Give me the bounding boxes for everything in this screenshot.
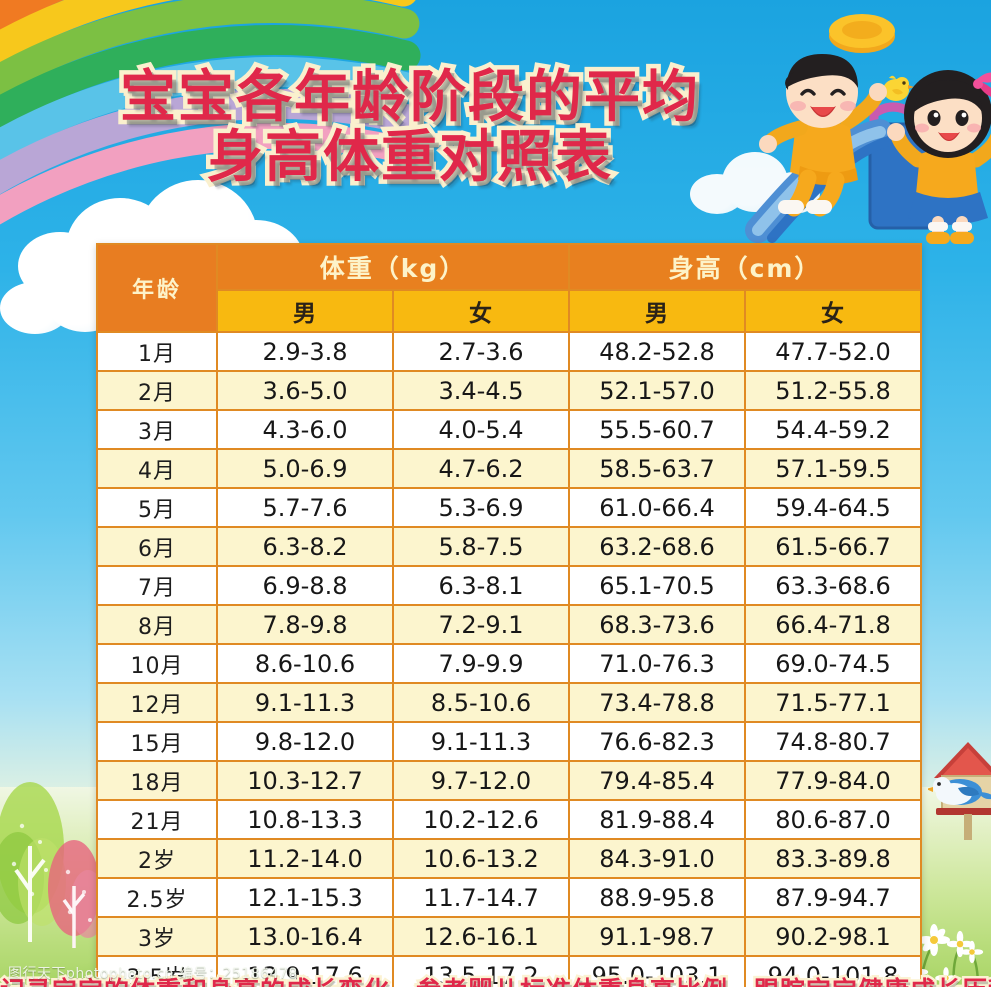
- row-weight-male: 7.8-9.8: [217, 605, 393, 644]
- row-weight-female: 2.7-3.6: [393, 332, 569, 371]
- row-weight-female: 9.7-12.0: [393, 761, 569, 800]
- row-weight-male: 3.6-5.0: [217, 371, 393, 410]
- row-age: 8月: [97, 605, 217, 644]
- row-height-female: 47.7-52.0: [745, 332, 921, 371]
- row-weight-female: 12.6-16.1: [393, 917, 569, 956]
- table-row: 10月8.6-10.67.9-9.971.0-76.369.0-74.5: [97, 644, 921, 683]
- row-weight-female: 10.6-13.2: [393, 839, 569, 878]
- table-row: 15月9.8-12.09.1-11.376.6-82.374.8-80.7: [97, 722, 921, 761]
- row-weight-male: 9.8-12.0: [217, 722, 393, 761]
- row-weight-female: 6.3-8.1: [393, 566, 569, 605]
- row-weight-female: 9.1-11.3: [393, 722, 569, 761]
- table-row: 2岁11.2-14.010.6-13.284.3-91.083.3-89.8: [97, 839, 921, 878]
- row-height-male: 88.9-95.8: [569, 878, 745, 917]
- row-age: 15月: [97, 722, 217, 761]
- row-height-male: 63.2-68.6: [569, 527, 745, 566]
- row-weight-female: 8.5-10.6: [393, 683, 569, 722]
- row-weight-male: 4.3-6.0: [217, 410, 393, 449]
- header-weight-male: 男: [217, 290, 393, 332]
- row-age: 2月: [97, 371, 217, 410]
- table-row: 2.5岁12.1-15.311.7-14.788.9-95.887.9-94.7: [97, 878, 921, 917]
- row-weight-female: 7.9-9.9: [393, 644, 569, 683]
- row-height-female: 87.9-94.7: [745, 878, 921, 917]
- row-weight-male: 5.7-7.6: [217, 488, 393, 527]
- row-weight-female: 7.2-9.1: [393, 605, 569, 644]
- row-height-female: 71.5-77.1: [745, 683, 921, 722]
- row-height-male: 65.1-70.5: [569, 566, 745, 605]
- row-height-male: 58.5-63.7: [569, 449, 745, 488]
- row-height-male: 84.3-91.0: [569, 839, 745, 878]
- row-height-male: 55.5-60.7: [569, 410, 745, 449]
- row-weight-male: 13.0-16.4: [217, 917, 393, 956]
- row-age: 5月: [97, 488, 217, 527]
- row-weight-male: 5.0-6.9: [217, 449, 393, 488]
- row-height-female: 61.5-66.7: [745, 527, 921, 566]
- row-weight-male: 10.8-13.3: [217, 800, 393, 839]
- row-height-male: 68.3-73.6: [569, 605, 745, 644]
- table-body: 1月2.9-3.82.7-3.648.2-52.847.7-52.02月3.6-…: [97, 332, 921, 987]
- row-age: 1月: [97, 332, 217, 371]
- row-weight-female: 4.7-6.2: [393, 449, 569, 488]
- row-age: 7月: [97, 566, 217, 605]
- row-weight-male: 11.2-14.0: [217, 839, 393, 878]
- watermark-text: 图行天下photophoto.cn 编号：25186478: [8, 963, 298, 983]
- header-height-male: 男: [569, 290, 745, 332]
- row-height-female: 66.4-71.8: [745, 605, 921, 644]
- table-row: 7月6.9-8.86.3-8.165.1-70.563.3-68.6: [97, 566, 921, 605]
- row-height-male: 91.1-98.7: [569, 917, 745, 956]
- row-height-male: 81.9-88.4: [569, 800, 745, 839]
- row-height-female: 80.6-87.0: [745, 800, 921, 839]
- row-height-female: 63.3-68.6: [745, 566, 921, 605]
- row-height-male: 48.2-52.8: [569, 332, 745, 371]
- header-weight-female: 女: [393, 290, 569, 332]
- table-row: 1月2.9-3.82.7-3.648.2-52.847.7-52.0: [97, 332, 921, 371]
- row-age: 3岁: [97, 917, 217, 956]
- table-row: 18月10.3-12.79.7-12.079.4-85.477.9-84.0: [97, 761, 921, 800]
- table-header-row-sexes: 男 女 男 女: [97, 290, 921, 332]
- row-height-male: 76.6-82.3: [569, 722, 745, 761]
- poster-canvas: 宝宝各年龄阶段的平均 身高体重对照表 年龄 体重（kg） 身高（cm） 男 女 …: [0, 0, 991, 987]
- row-weight-female: 4.0-5.4: [393, 410, 569, 449]
- row-weight-female: 5.8-7.5: [393, 527, 569, 566]
- table-row: 4月5.0-6.94.7-6.258.5-63.757.1-59.5: [97, 449, 921, 488]
- girl-standing-icon: [880, 56, 991, 246]
- table-header: 年龄 体重（kg） 身高（cm） 男 女 男 女: [97, 244, 921, 332]
- row-weight-male: 2.9-3.8: [217, 332, 393, 371]
- row-height-male: 79.4-85.4: [569, 761, 745, 800]
- row-weight-male: 6.3-8.2: [217, 527, 393, 566]
- table-row: 6月6.3-8.25.8-7.563.2-68.661.5-66.7: [97, 527, 921, 566]
- row-weight-male: 6.9-8.8: [217, 566, 393, 605]
- row-weight-male: 8.6-10.6: [217, 644, 393, 683]
- table-header-row-groups: 年龄 体重（kg） 身高（cm）: [97, 244, 921, 290]
- row-height-female: 77.9-84.0: [745, 761, 921, 800]
- row-age: 6月: [97, 527, 217, 566]
- row-height-female: 74.8-80.7: [745, 722, 921, 761]
- row-age: 3月: [97, 410, 217, 449]
- table-row: 21月10.8-13.310.2-12.681.9-88.480.6-87.0: [97, 800, 921, 839]
- table-row: 5月5.7-7.65.3-6.961.0-66.459.4-64.5: [97, 488, 921, 527]
- birdhouse-with-blue-bird-icon: [928, 734, 991, 840]
- row-age: 12月: [97, 683, 217, 722]
- row-weight-female: 5.3-6.9: [393, 488, 569, 527]
- row-height-female: 57.1-59.5: [745, 449, 921, 488]
- row-height-female: 59.4-64.5: [745, 488, 921, 527]
- row-age: 4月: [97, 449, 217, 488]
- table-row: 2月3.6-5.03.4-4.552.1-57.051.2-55.8: [97, 371, 921, 410]
- row-weight-female: 10.2-12.6: [393, 800, 569, 839]
- row-height-female: 69.0-74.5: [745, 644, 921, 683]
- table-row: 12月9.1-11.38.5-10.673.4-78.871.5-77.1: [97, 683, 921, 722]
- row-height-female: 54.4-59.2: [745, 410, 921, 449]
- row-height-male: 61.0-66.4: [569, 488, 745, 527]
- row-height-female: 51.2-55.8: [745, 371, 921, 410]
- row-age: 2.5岁: [97, 878, 217, 917]
- header-height-group: 身高（cm）: [569, 244, 921, 290]
- row-age: 2岁: [97, 839, 217, 878]
- row-height-male: 73.4-78.8: [569, 683, 745, 722]
- growth-reference-table: 年龄 体重（kg） 身高（cm） 男 女 男 女 1月2.9-3.82.7-3.…: [96, 243, 922, 987]
- row-weight-male: 12.1-15.3: [217, 878, 393, 917]
- table-row: 3月4.3-6.04.0-5.455.5-60.754.4-59.2: [97, 410, 921, 449]
- table-row: 8月7.8-9.87.2-9.168.3-73.666.4-71.8: [97, 605, 921, 644]
- row-height-male: 71.0-76.3: [569, 644, 745, 683]
- row-age: 18月: [97, 761, 217, 800]
- header-weight-group: 体重（kg）: [217, 244, 569, 290]
- header-height-female: 女: [745, 290, 921, 332]
- row-height-male: 52.1-57.0: [569, 371, 745, 410]
- row-age: 21月: [97, 800, 217, 839]
- row-weight-male: 10.3-12.7: [217, 761, 393, 800]
- row-weight-female: 11.7-14.7: [393, 878, 569, 917]
- row-weight-male: 9.1-11.3: [217, 683, 393, 722]
- header-age: 年龄: [97, 244, 217, 332]
- row-height-female: 90.2-98.1: [745, 917, 921, 956]
- row-weight-female: 3.4-4.5: [393, 371, 569, 410]
- table-row: 3岁13.0-16.412.6-16.191.1-98.790.2-98.1: [97, 917, 921, 956]
- row-age: 10月: [97, 644, 217, 683]
- row-height-female: 83.3-89.8: [745, 839, 921, 878]
